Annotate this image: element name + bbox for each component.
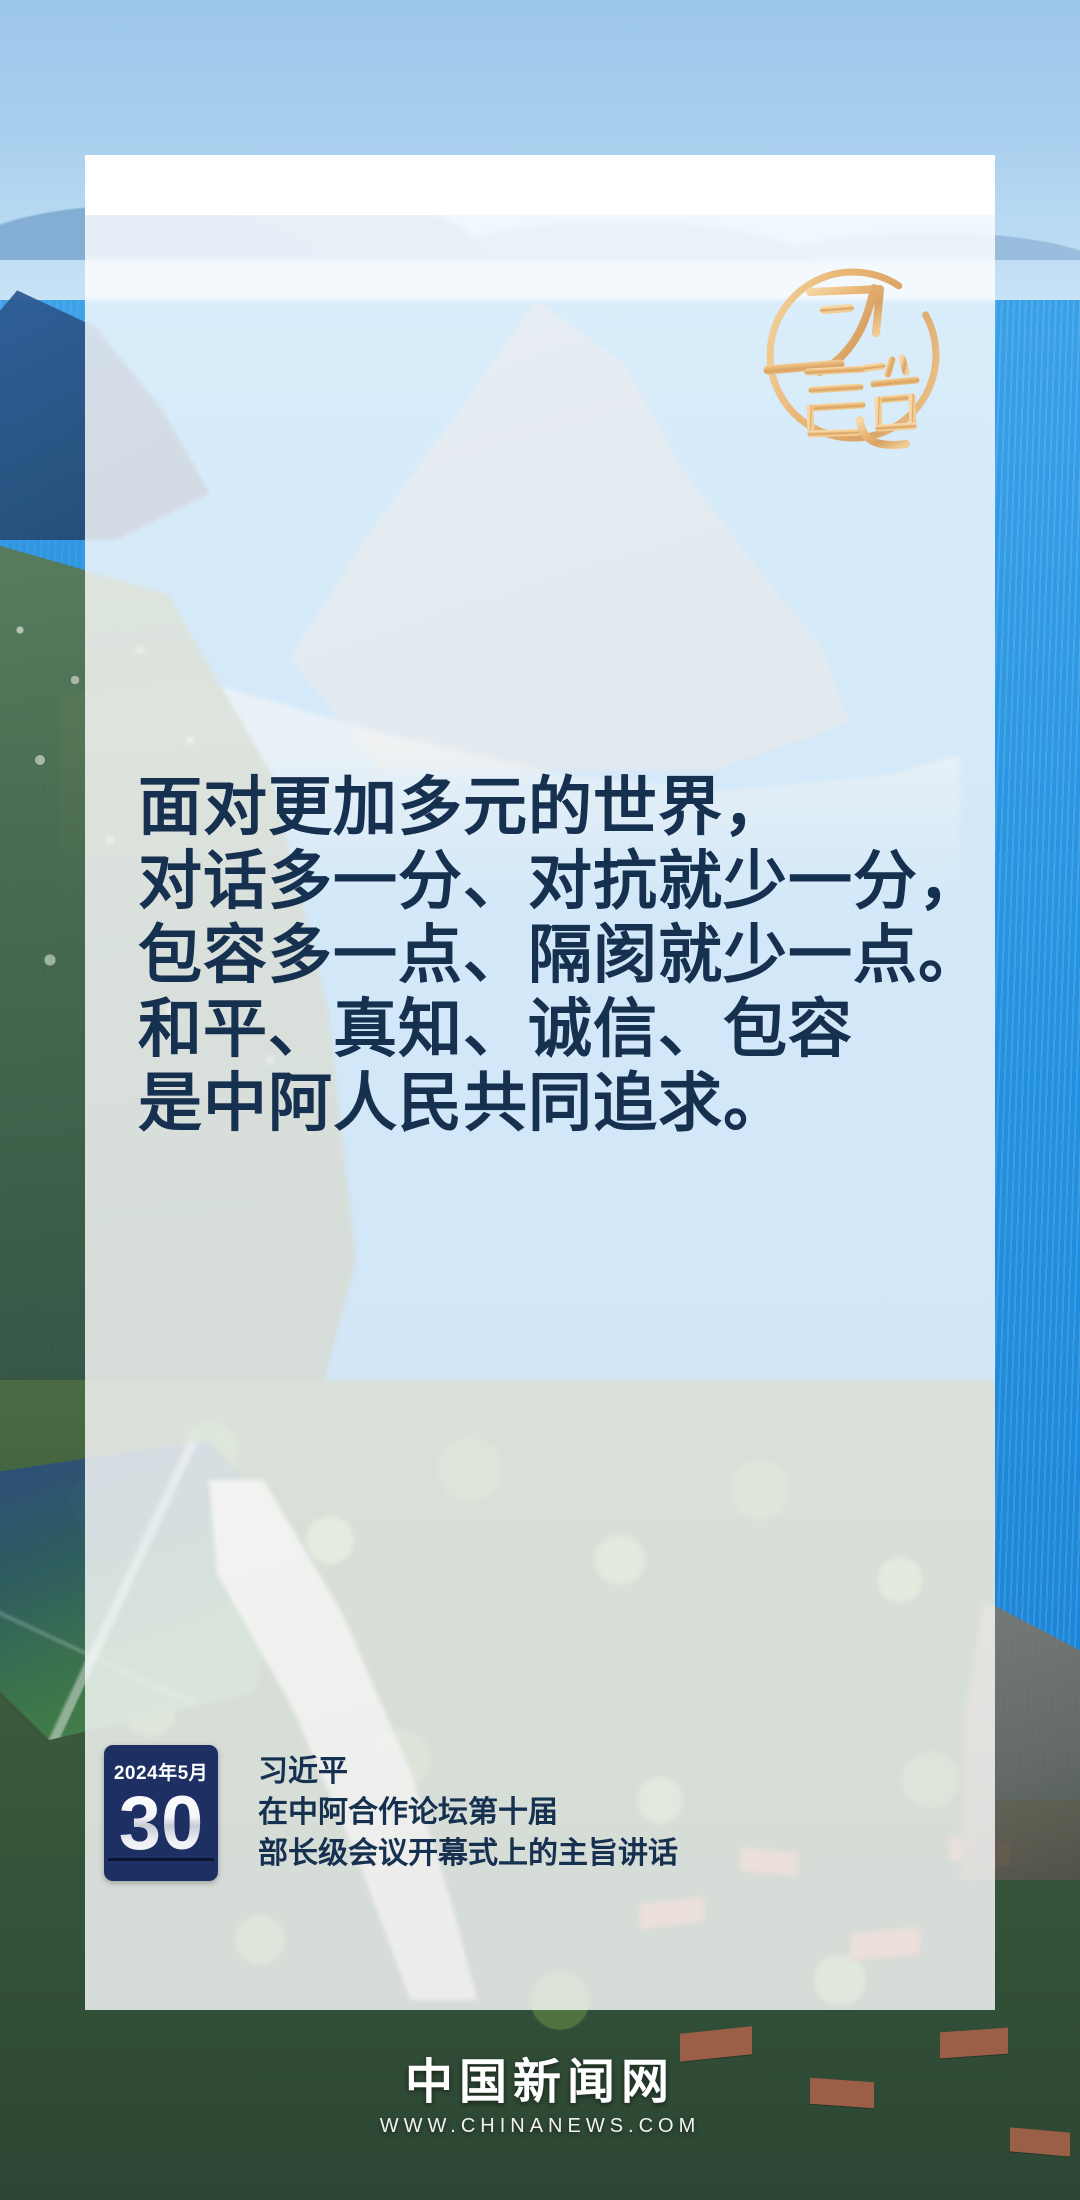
date-day: 30	[104, 1781, 218, 1867]
card-top-strip	[85, 155, 995, 215]
right-sea-strip	[995, 300, 1080, 1800]
quote-line-4: 和平、真知、诚信、包容	[138, 992, 958, 1066]
attribution-block: 习近平 在中阿合作论坛第十届 部长级会议开幕式上的主旨讲话	[258, 1752, 898, 1874]
poster-root: 面对更加多元的世界， 对话多一分、对抗就少一分， 包容多一点、隔阂就少一点。 和…	[0, 0, 1080, 2200]
chinanews-brand-logo: 中国新闻网	[0, 2055, 1080, 2111]
quote-block: 面对更加多元的世界， 对话多一分、对抗就少一分， 包容多一点、隔阂就少一点。 和…	[138, 770, 958, 1140]
date-badge: 2024年5月 30	[104, 1745, 218, 1881]
quote-line-3: 包容多一点、隔阂就少一点。	[138, 918, 958, 992]
chinanews-url: WWW.CHINANEWS.COM	[0, 2111, 1080, 2141]
speaker-name: 习近平	[258, 1752, 898, 1792]
xi-yan-dao-seal-icon	[748, 248, 958, 463]
footer-watermark: 中国新闻网 WWW.CHINANEWS.COM	[0, 2055, 1080, 2141]
quote-line-5: 是中阿人民共同追求。	[138, 1066, 958, 1140]
flip-calendar-line	[108, 1858, 214, 1861]
quote-line-2: 对话多一分、对抗就少一分，	[138, 844, 958, 918]
quote-line-1: 面对更加多元的世界，	[138, 770, 958, 844]
occasion-line-2: 部长级会议开幕式上的主旨讲话	[258, 1833, 898, 1874]
occasion-line-1: 在中阿合作论坛第十届	[258, 1792, 898, 1833]
